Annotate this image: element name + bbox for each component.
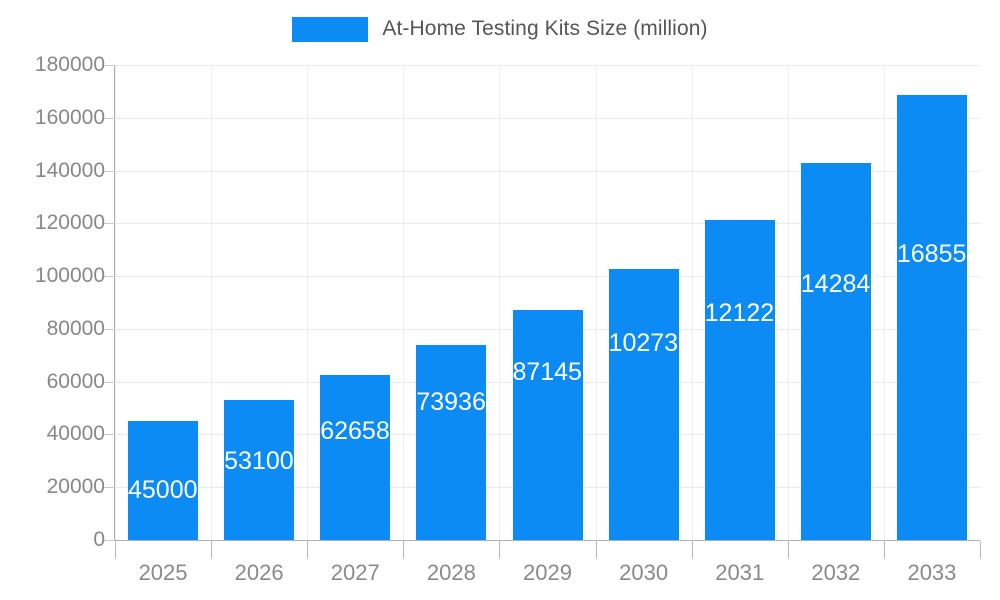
y-axis-tick-mark — [104, 118, 115, 119]
x-axis-tick-mark — [980, 541, 981, 559]
y-axis-tick-label: 20000 — [9, 475, 105, 499]
y-axis-tick-label: 100000 — [9, 264, 105, 288]
legend-swatch-icon — [292, 17, 368, 42]
x-axis-tick-label: 2025 — [139, 560, 188, 586]
x-axis-tick-mark — [788, 541, 789, 559]
x-axis-tick-label: 2031 — [715, 560, 764, 586]
y-axis-tick-label: 0 — [9, 528, 105, 552]
y-axis-tick-mark — [104, 223, 115, 224]
x-axis-tick-mark — [596, 541, 597, 559]
y-axis-tick-label: 180000 — [9, 53, 105, 77]
x-axis-tick-label: 2028 — [427, 560, 476, 586]
category-separator — [211, 65, 212, 540]
category-separator — [788, 65, 789, 540]
y-axis-tick-label: 160000 — [9, 106, 105, 130]
y-axis-labels: 0200004000060000800001000001200001400001… — [0, 0, 105, 600]
x-axis-tick-mark — [115, 541, 116, 559]
x-axis-tick-label: 2032 — [811, 560, 860, 586]
bar[interactable] — [320, 375, 390, 540]
y-axis-tick-mark — [104, 65, 115, 66]
category-separator — [307, 65, 308, 540]
x-axis-tick-mark — [307, 541, 308, 559]
bar-value-label: 87145 — [512, 360, 582, 385]
y-axis-tick-mark — [104, 382, 115, 383]
y-axis-tick-mark — [104, 276, 115, 277]
category-separator — [115, 65, 116, 540]
x-axis-tick-mark — [403, 541, 404, 559]
category-separator — [884, 65, 885, 540]
category-separator — [596, 65, 597, 540]
bar[interactable] — [513, 310, 583, 540]
gridline — [115, 540, 980, 541]
bar[interactable] — [416, 345, 486, 540]
bar-value-label: 45000 — [128, 478, 198, 503]
y-axis-tick-label: 80000 — [9, 317, 105, 341]
bar-value-label: 62658 — [320, 419, 390, 444]
bar[interactable] — [801, 163, 871, 540]
bar[interactable] — [705, 220, 775, 540]
y-axis-tick-label: 140000 — [9, 159, 105, 183]
plot-area: 4500053100626587393687145102731121223142… — [115, 65, 980, 540]
y-axis-tick-label: 60000 — [9, 370, 105, 394]
bar-value-label: 102731 — [609, 331, 692, 356]
y-axis-tick-mark — [104, 329, 115, 330]
bar-chart: At-Home Testing Kits Size (million) 0200… — [0, 0, 1000, 600]
gridline — [115, 118, 980, 119]
y-axis-tick-mark — [104, 540, 115, 541]
legend-label: At-Home Testing Kits Size (million) — [382, 17, 707, 41]
x-axis-tick-label: 2026 — [235, 560, 284, 586]
x-axis-tick-label: 2033 — [907, 560, 956, 586]
x-axis-tick-mark — [499, 541, 500, 559]
bar-value-label: 121223 — [705, 301, 788, 326]
x-axis-tick-label: 2029 — [523, 560, 572, 586]
category-separator — [403, 65, 404, 540]
y-axis-tick-mark — [104, 171, 115, 172]
x-axis-tick-label: 2030 — [619, 560, 668, 586]
category-separator — [692, 65, 693, 540]
x-axis-tick-mark — [692, 541, 693, 559]
bar-value-label: 142843 — [801, 272, 884, 297]
gridline — [115, 65, 980, 66]
bar[interactable] — [897, 95, 967, 540]
x-axis-tick-mark — [884, 541, 885, 559]
y-axis-tick-label: 40000 — [9, 422, 105, 446]
y-axis-tick-label: 120000 — [9, 211, 105, 235]
category-separator — [499, 65, 500, 540]
x-axis-tick-mark — [211, 541, 212, 559]
bar[interactable] — [609, 269, 679, 540]
bar-value-label: 168555 — [897, 242, 980, 267]
y-axis-tick-mark — [104, 434, 115, 435]
bar-value-label: 53100 — [224, 449, 294, 474]
bar-value-label: 73936 — [416, 390, 486, 415]
x-axis-tick-label: 2027 — [331, 560, 380, 586]
y-axis-tick-mark — [104, 487, 115, 488]
chart-legend: At-Home Testing Kits Size (million) — [0, 14, 1000, 44]
